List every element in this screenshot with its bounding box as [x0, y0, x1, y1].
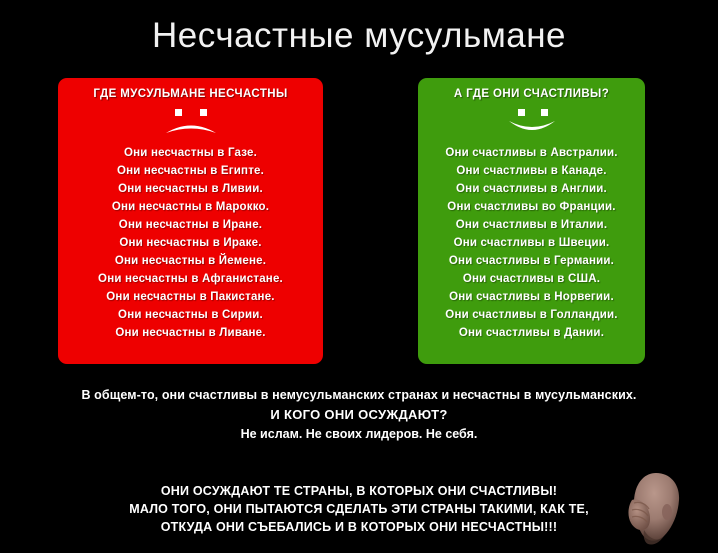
poster-canvas: Несчастные мусульмане ГДЕ МУСУЛЬМАНЕ НЕС… — [0, 0, 718, 551]
bottom-line-2: МАЛО ТОГО, ОНИ ПЫТАЮТСЯ СДЕЛАТЬ ЭТИ СТРА… — [0, 500, 718, 518]
list-item: Они несчастны в Сирии. — [58, 306, 323, 324]
list-item: Они счастливы в Италии. — [418, 216, 645, 234]
list-item: Они счастливы в США. — [418, 270, 645, 288]
caption-line-3: Не ислам. Не своих лидеров. Не себя. — [0, 425, 718, 444]
caption-line-1: В общем-то, они счастливы в немусульманс… — [0, 386, 718, 405]
list-item: Они счастливы в Дании. — [418, 324, 645, 342]
panel-happy-header: А ГДЕ ОНИ СЧАСТЛИВЫ? — [418, 88, 645, 100]
list-item: Они несчастны в Ливии. — [58, 180, 323, 198]
sad-face-icon — [58, 104, 323, 138]
panel-happy: А ГДЕ ОНИ СЧАСТЛИВЫ? Они счастливы в Авс… — [418, 78, 645, 364]
list-item: Они счастливы в Норвегии. — [418, 288, 645, 306]
list-item: Они несчастны в Пакистане. — [58, 288, 323, 306]
list-item: Они несчастны в Египте. — [58, 162, 323, 180]
list-item: Они счастливы во Франции. — [418, 198, 645, 216]
list-item: Они несчастны в Ираке. — [58, 234, 323, 252]
facepalm-image — [624, 470, 698, 548]
bottom-line-1: ОНИ ОСУЖДАЮТ ТЕ СТРАНЫ, В КОТОРЫХ ОНИ СЧ… — [0, 482, 718, 500]
page-title: Несчастные мусульмане — [0, 16, 718, 56]
list-item: Они несчастны в Иране. — [58, 216, 323, 234]
bottom-block: ОНИ ОСУЖДАЮТ ТЕ СТРАНЫ, В КОТОРЫХ ОНИ СЧ… — [0, 482, 718, 536]
happy-face-icon — [418, 104, 645, 138]
list-item: Они счастливы в Германии. — [418, 252, 645, 270]
caption-line-2: И КОГО ОНИ ОСУЖДАЮТ? — [0, 405, 718, 425]
happy-list: Они счастливы в Австралии. Они счастливы… — [418, 144, 645, 342]
list-item: Они счастливы в Англии. — [418, 180, 645, 198]
panel-unhappy-header: ГДЕ МУСУЛЬМАНЕ НЕСЧАСТНЫ — [58, 88, 323, 100]
list-item: Они несчастны в Марокко. — [58, 198, 323, 216]
list-item: Они несчастны в Йемене. — [58, 252, 323, 270]
list-item: Они несчастны в Афганистане. — [58, 270, 323, 288]
list-item: Они несчастны в Ливане. — [58, 324, 323, 342]
bottom-line-3: ОТКУДА ОНИ СЪЕБАЛИСЬ И В КОТОРЫХ ОНИ НЕС… — [0, 518, 718, 536]
list-item: Они несчастны в Газе. — [58, 144, 323, 162]
panel-unhappy: ГДЕ МУСУЛЬМАНЕ НЕСЧАСТНЫ Они несчастны в… — [58, 78, 323, 364]
list-item: Они счастливы в Канаде. — [418, 162, 645, 180]
list-item: Они счастливы в Голландии. — [418, 306, 645, 324]
list-item: Они счастливы в Швеции. — [418, 234, 645, 252]
unhappy-list: Они несчастны в Газе. Они несчастны в Ег… — [58, 144, 323, 342]
caption-block: В общем-то, они счастливы в немусульманс… — [0, 386, 718, 444]
list-item: Они счастливы в Австралии. — [418, 144, 645, 162]
